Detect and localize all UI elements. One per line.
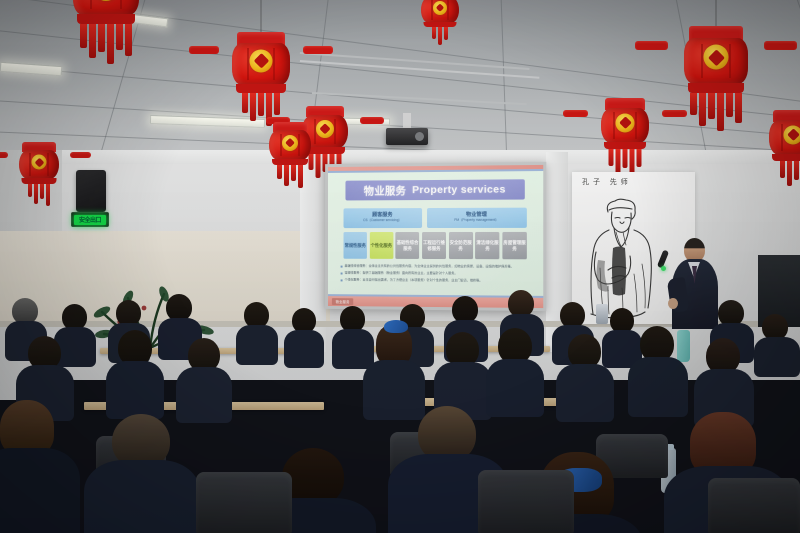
bullet-dot-icon bbox=[341, 266, 343, 268]
audience-member bbox=[292, 308, 332, 371]
slide-category-cell: 个性化服务 bbox=[369, 232, 393, 259]
chinese-lantern bbox=[410, 0, 470, 60]
audience-member bbox=[640, 326, 700, 422]
wall-top-molding bbox=[0, 150, 800, 164]
bullet-dot-icon bbox=[341, 273, 343, 275]
header-pm-en: PM（Property management） bbox=[454, 219, 499, 223]
fu-medallion bbox=[784, 125, 800, 144]
wall-speaker bbox=[76, 170, 106, 212]
chinese-lantern bbox=[8, 142, 70, 226]
fu-medallion bbox=[32, 155, 47, 170]
fu-medallion bbox=[433, 1, 447, 15]
slide-title-cn: 物业服务 bbox=[364, 183, 406, 198]
slide-bullet: 个性化服务：业主自行提出需求，为了方便业主（本项服务）针对个性的服务，业主门窗清… bbox=[341, 277, 532, 283]
projector-icon bbox=[386, 128, 428, 145]
audience-member bbox=[244, 302, 286, 368]
audience bbox=[0, 290, 800, 533]
exit-sign-label: 安全出口 bbox=[74, 215, 106, 225]
conference-room-scene: 安全出口 物业服务 Property services 顾客服务 CS（Cust… bbox=[0, 0, 800, 533]
fu-medallion bbox=[704, 45, 729, 70]
audience-member bbox=[568, 334, 626, 427]
projector-lens bbox=[415, 132, 424, 141]
bullet-text: 常规性服务：提供了基础服务（物业服务）面向所有的业主，主要是针对个人服务。 bbox=[344, 271, 457, 276]
slide-category-cell: 清洁绿化服务 bbox=[475, 232, 499, 259]
slide-header-pm: 物业管理 PM（Property management） bbox=[427, 208, 527, 228]
fu-medallion bbox=[250, 49, 273, 72]
slide-header-row: 顾客服务 CS（Customer servicing） 物业管理 PM（Prop… bbox=[344, 208, 527, 228]
fu-medallion bbox=[93, 0, 119, 1]
slide-category-cell: 常规性服务 bbox=[344, 232, 368, 259]
slide-title: 物业服务 Property services bbox=[345, 179, 524, 200]
slide-title-en: Property services bbox=[412, 183, 506, 196]
raised-phone bbox=[596, 304, 608, 324]
header-cs-en: CS（Customer servicing） bbox=[363, 219, 402, 223]
slide-category-cell: 基础性综合服务 bbox=[396, 232, 420, 259]
slide-category-cell: 工程运行维修服务 bbox=[422, 232, 446, 259]
microphone-led bbox=[661, 266, 666, 271]
poster-caption: 孔子 先师 bbox=[582, 177, 632, 187]
audience-member bbox=[762, 314, 800, 380]
slide-bullet: 常规性服务：提供了基础服务（物业服务）面向所有的业主，主要是针对个人服务。 bbox=[341, 271, 532, 276]
bullet-dot-icon bbox=[341, 279, 343, 281]
bullet-text: 个性化服务：业主自行提出需求，为了方便业主（本项服务）针对个性的服务，业主门窗清… bbox=[344, 277, 482, 282]
exit-sign: 安全出口 bbox=[71, 212, 109, 227]
slide-category-cell: 房屋管理服务 bbox=[502, 232, 527, 259]
chair bbox=[478, 470, 574, 533]
slide-category-row: 常规性服务 个性化服务 基础性综合服务 工程运行维修服务 安全防范服务 清洁绿化… bbox=[344, 232, 527, 259]
slide-bullet: 基础性综合服务：全体业主共有的公共性服务内容，为全体业主提供的共性服务，如物业的… bbox=[341, 264, 532, 269]
fu-medallion bbox=[282, 135, 298, 151]
slide-header-cs: 顾客服务 CS（Customer servicing） bbox=[344, 208, 422, 228]
audience-member bbox=[118, 330, 176, 424]
chinese-lantern bbox=[258, 122, 322, 208]
slide-category-cell: 安全防范服务 bbox=[449, 232, 473, 259]
slide-bullet-list: 基础性综合服务：全体业主共有的公共性服务内容，为全体业主提供的共性服务，如物业的… bbox=[341, 264, 532, 286]
fu-medallion bbox=[616, 113, 635, 132]
chinese-lantern bbox=[668, 26, 764, 150]
presentation-slide[interactable]: 物业服务 Property services 顾客服务 CS（Customer … bbox=[328, 165, 543, 308]
chinese-lantern bbox=[58, 0, 154, 76]
projection-screen[interactable]: 物业服务 Property services 顾客服务 CS（Customer … bbox=[325, 162, 546, 311]
bullet-text: 基础性综合服务：全体业主共有的公共性服务内容，为全体业主提供的共性服务，如物业的… bbox=[344, 264, 513, 269]
chinese-lantern bbox=[756, 110, 800, 206]
chair bbox=[708, 478, 800, 533]
chair bbox=[196, 472, 292, 533]
blue-hair-ribbon bbox=[384, 320, 408, 333]
